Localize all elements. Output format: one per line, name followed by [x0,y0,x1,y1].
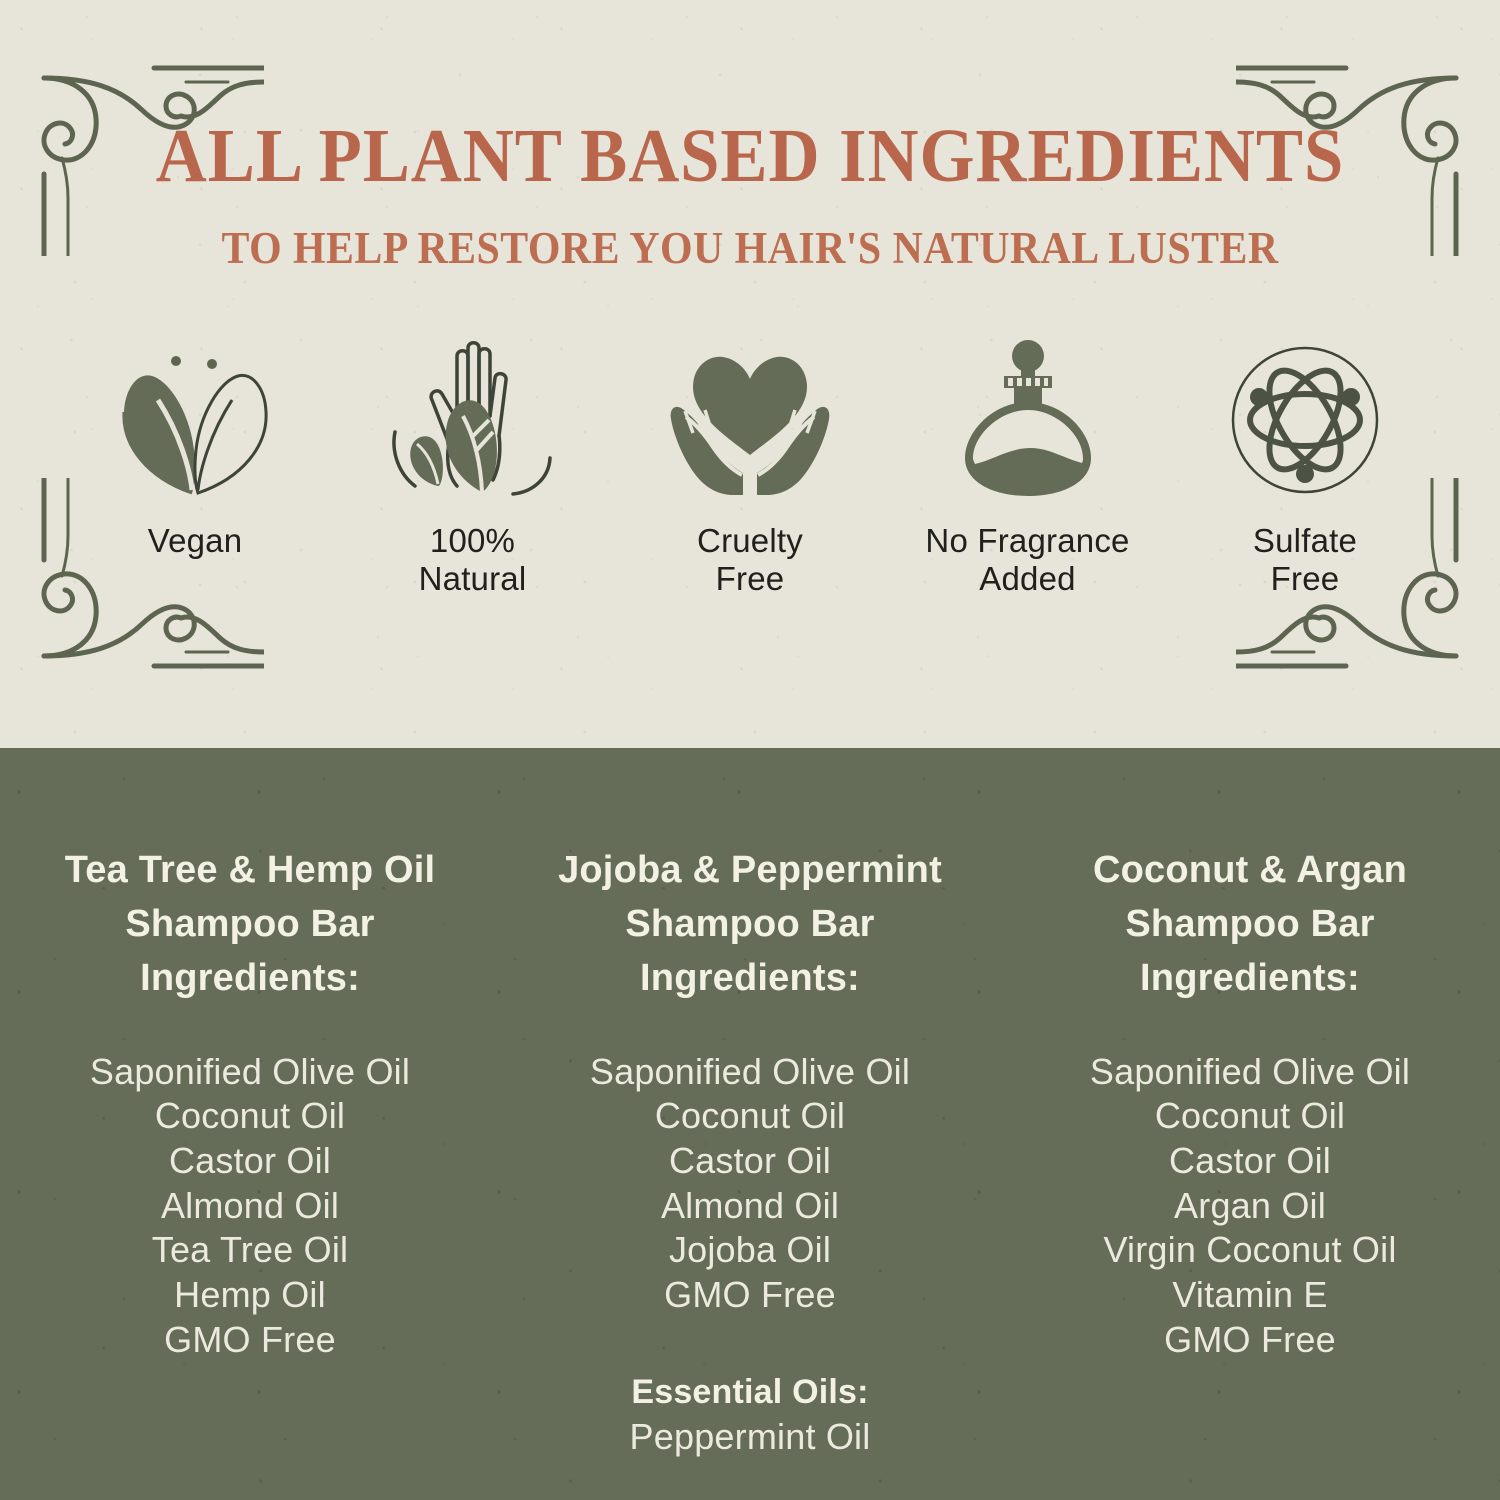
badge-icon-wrap [953,340,1103,500]
heading-line: Ingredients: [1093,952,1407,1006]
badge-label-cruelty-free: Cruelty Free [697,522,803,599]
heading-line: Tea Tree & Hemp Oil [65,844,436,898]
badge-cruelty-free: Cruelty Free [615,340,885,599]
list-item: Almond Oil [90,1184,410,1229]
badge-icon-wrap [1225,340,1385,500]
list-item: Tea Tree Oil [90,1228,410,1273]
badge-natural: 100% Natural [338,340,608,599]
heading-line: Jojoba & Peppermint [558,844,942,898]
badge-label-vegan: Vegan [148,522,243,560]
essential-oils-item: Peppermint Oil [630,1414,871,1461]
list-item: Vitamin E [1090,1273,1410,1318]
heading-line: Shampoo Bar [1093,898,1407,952]
essential-oils-title: Essential Oils: [630,1370,871,1414]
list-item: Coconut Oil [590,1094,910,1139]
hand-with-leaves-icon [385,340,560,500]
list-item: Coconut Oil [1090,1094,1410,1139]
list-item: Argan Oil [1090,1184,1410,1229]
heading-line: Shampoo Bar [558,898,942,952]
ingredient-column-tea-tree-hemp: Tea Tree & Hemp Oil Shampoo Bar Ingredie… [0,748,500,1500]
product-infographic: ALL PLANT BASED INGREDIENTS TO HELP REST… [0,0,1500,1500]
list-item: Almond Oil [590,1184,910,1229]
list-item: Castor Oil [1090,1139,1410,1184]
list-item: Saponified Olive Oil [1090,1050,1410,1095]
heading-line: Ingredients: [65,952,436,1006]
badge-sulfate-free: Sulfate Free [1170,340,1440,599]
ingredient-column-jojoba-peppermint: Jojoba & Peppermint Shampoo Bar Ingredie… [500,748,1000,1500]
essential-oils-block: Essential Oils: Peppermint Oil [630,1370,871,1461]
list-item: Saponified Olive Oil [90,1050,410,1095]
badge-label-sulfate-free: Sulfate Free [1253,522,1357,599]
atom-icon [1225,340,1385,500]
badge-no-fragrance: No Fragrance Added [893,340,1163,599]
heading-line: Coconut & Argan [1093,844,1407,898]
heart-in-hands-icon [663,345,838,500]
page-subtitle: TO HELP RESTORE YOU HAIR'S NATURAL LUSTE… [53,226,1448,271]
badge-icon-wrap [385,340,560,500]
perfume-bottle-icon [953,340,1103,500]
list-item: GMO Free [590,1273,910,1318]
list-item: Jojoba Oil [590,1228,910,1273]
ingredient-column-coconut-argan: Coconut & Argan Shampoo Bar Ingredients:… [1000,748,1500,1500]
ingredient-columns: Tea Tree & Hemp Oil Shampoo Bar Ingredie… [0,748,1500,1500]
list-item: Saponified Olive Oil [590,1050,910,1095]
badge-label-natural: 100% Natural [419,522,527,599]
hero-panel: ALL PLANT BASED INGREDIENTS TO HELP REST… [0,0,1500,748]
column-heading: Tea Tree & Hemp Oil Shampoo Bar Ingredie… [65,844,436,1006]
list-item: GMO Free [90,1318,410,1363]
badge-vegan: Vegan [60,340,330,560]
list-item: Castor Oil [90,1139,410,1184]
two-leaves-icon [108,350,283,500]
heading-line: Shampoo Bar [65,898,436,952]
page-title: ALL PLANT BASED INGREDIENTS [53,118,1448,194]
badge-row: Vegan [60,340,1440,599]
list-item: Castor Oil [590,1139,910,1184]
heading-line: Ingredients: [558,952,942,1006]
badge-label-no-fragrance: No Fragrance Added [925,522,1129,599]
ingredient-list: Saponified Olive Oil Coconut Oil Castor … [90,1050,410,1362]
list-item: Virgin Coconut Oil [1090,1228,1410,1273]
ingredients-panel: Tea Tree & Hemp Oil Shampoo Bar Ingredie… [0,748,1500,1500]
list-item: Coconut Oil [90,1094,410,1139]
list-item: GMO Free [1090,1318,1410,1363]
column-heading: Coconut & Argan Shampoo Bar Ingredients: [1093,844,1407,1006]
ingredient-list: Saponified Olive Oil Coconut Oil Castor … [1090,1050,1410,1362]
ingredient-list: Saponified Olive Oil Coconut Oil Castor … [590,1050,910,1318]
column-heading: Jojoba & Peppermint Shampoo Bar Ingredie… [558,844,942,1006]
badge-icon-wrap [663,340,838,500]
badge-icon-wrap [108,340,283,500]
list-item: Hemp Oil [90,1273,410,1318]
